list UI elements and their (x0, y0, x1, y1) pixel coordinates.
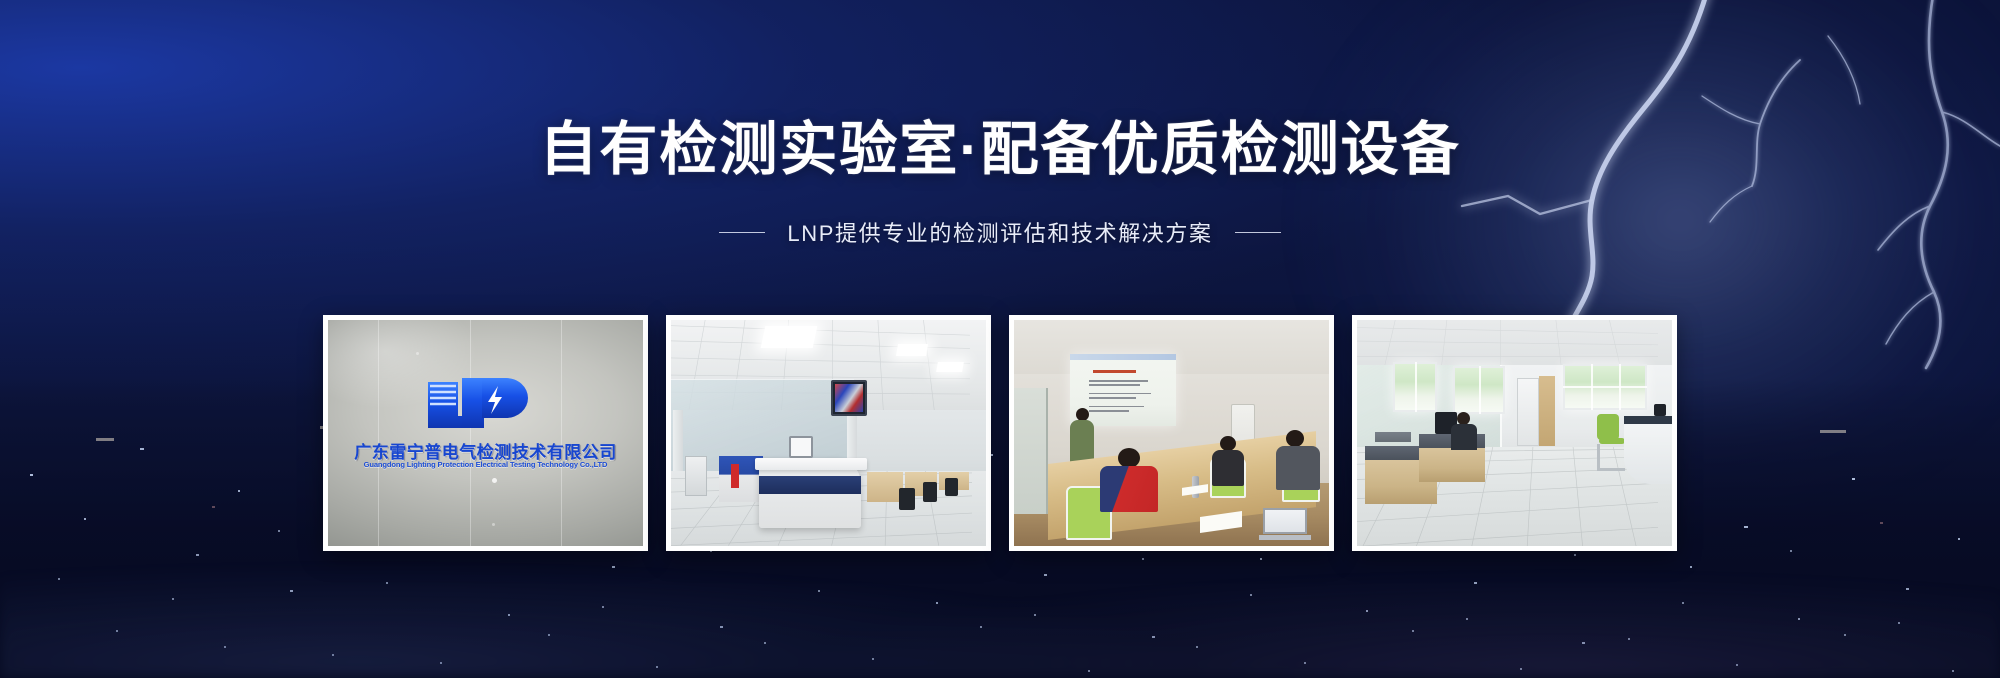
lnp-logo-icon (424, 376, 532, 434)
subtitle-row: LNP提供专业的检测评估和技术解决方案 (0, 216, 2000, 248)
photo-open-office[interactable] (1352, 315, 1677, 551)
wall-display-icon (831, 380, 867, 416)
rule-right-icon (1235, 232, 1281, 233)
photo-company-sign-image: 广东雷宁普电气检测技术有限公司 Guangdong Lighting Prote… (328, 320, 643, 546)
page-title: 自有检测实验室·配备优质检测设备 (0, 118, 2000, 183)
photo-company-sign[interactable]: 广东雷宁普电气检测技术有限公司 Guangdong Lighting Prote… (323, 315, 648, 551)
photo-strip: 广东雷宁普电气检测技术有限公司 Guangdong Lighting Prote… (0, 315, 2000, 551)
photo-testing-laboratory-image (671, 320, 986, 546)
sign-english-text: Guangdong Lighting Protection Electrical… (364, 460, 608, 469)
rule-left-icon (719, 232, 765, 233)
photo-testing-laboratory[interactable] (666, 315, 991, 551)
photo-open-office-image (1357, 320, 1672, 546)
hero-banner: 自有检测实验室·配备优质检测设备 LNP提供专业的检测评估和技术解决方案 (0, 0, 2000, 678)
photo-meeting-room[interactable] (1009, 315, 1334, 551)
page-subtitle: LNP提供专业的检测评估和技术解决方案 (787, 216, 1212, 248)
photo-meeting-room-image (1014, 320, 1329, 546)
laptop-icon (1259, 508, 1311, 540)
